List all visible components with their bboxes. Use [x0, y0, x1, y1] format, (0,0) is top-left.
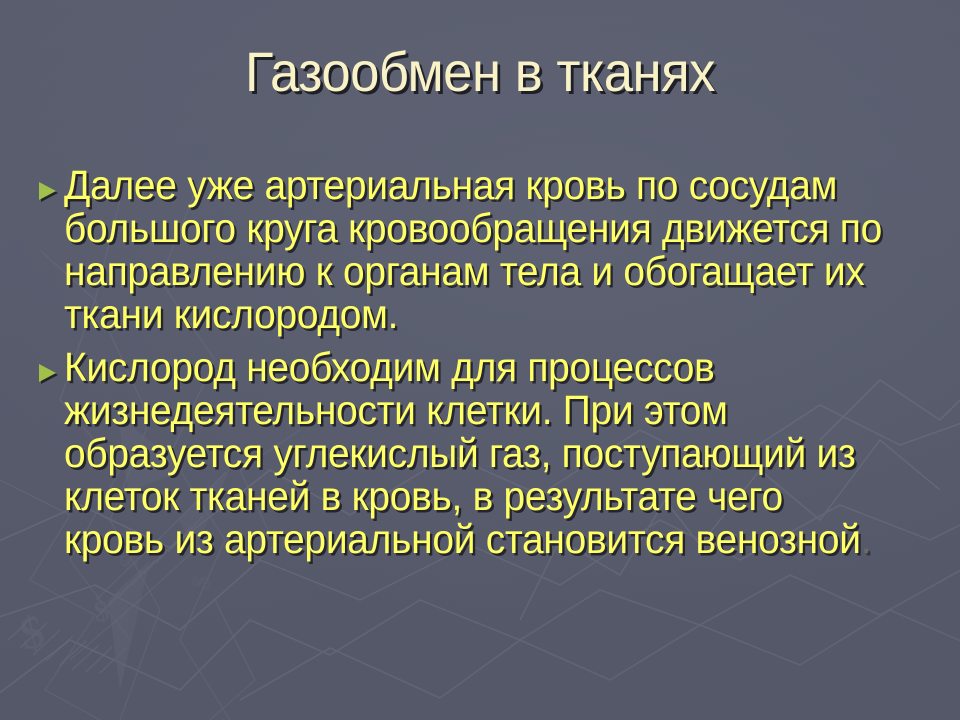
bullet-item: Далее уже артериальная кровь по сосудам …	[34, 164, 932, 336]
bullet-text-main: Кислород необходим для процессов жизнеде…	[64, 344, 861, 562]
svg-text:$: $	[15, 605, 48, 660]
triangle-right-icon	[34, 346, 64, 386]
bullet-text: Далее уже артериальная кровь по сосудам …	[64, 164, 889, 336]
triangle-right-icon	[34, 164, 64, 204]
bullet-text: Кислород необходим для процессов жизнеде…	[64, 346, 889, 561]
presentation-slide: $ $ $ $ Газообмен в тканях Далее уже арт…	[0, 0, 960, 720]
slide-title: Газообмен в тканях	[66, 44, 893, 100]
svg-text:$: $	[186, 573, 217, 592]
slide-body: Далее уже артериальная кровь по сосудам …	[34, 164, 932, 571]
bullet-item: Кислород необходим для процессов жизнеде…	[34, 346, 932, 561]
svg-text:$: $	[91, 594, 112, 629]
trailing-period: .	[861, 516, 872, 562]
